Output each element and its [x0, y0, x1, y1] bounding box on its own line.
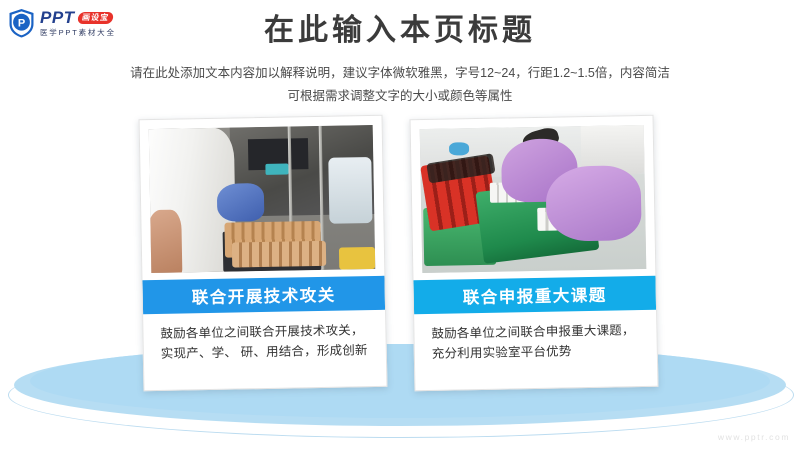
card-banner-right: 联合申报重大课题: [413, 276, 656, 314]
page-subtitle: 请在此处添加文本内容加以解释说明，建议字体微软雅黑，字号12~24，行距1.2~…: [0, 62, 800, 108]
card-photo-right: [420, 125, 647, 273]
subtitle-line-1: 请在此处添加文本内容加以解释说明，建议字体微软雅黑，字号12~24，行距1.2~…: [0, 62, 800, 85]
card-body-right: 鼓励各单位之间联合申报重大课题，充分利用实验室平台优势: [414, 310, 657, 365]
test-tube-rack-photo: [420, 125, 647, 273]
content-card-left[interactable]: 联合开展技术攻关 鼓励各单位之间联合开展技术攻关，实现产、学、 研、用结合，形成…: [139, 115, 388, 391]
bottom-ellipse-fill-inner: [30, 344, 770, 418]
card-body-left: 鼓励各单位之间联合开展技术攻关，实现产、学、 研、用结合，形成创新: [143, 310, 386, 365]
subtitle-line-2: 可根据需求调整文字的大小或颜色等属性: [0, 85, 800, 108]
card-photo-left: [149, 125, 376, 273]
page-title: 在此输入本页标题: [0, 10, 800, 52]
site-watermark: www.pptr.com: [718, 432, 790, 442]
lab-technician-photo: [149, 125, 376, 273]
content-card-right[interactable]: 联合申报重大课题 鼓励各单位之间联合申报重大课题，充分利用实验室平台优势: [410, 115, 659, 391]
slide-canvas: P PPT 画设宝 医学PPT素材大全 在此输入本页标题 请在此处添加文本内容加…: [0, 0, 800, 450]
card-banner-left: 联合开展技术攻关: [142, 276, 385, 314]
